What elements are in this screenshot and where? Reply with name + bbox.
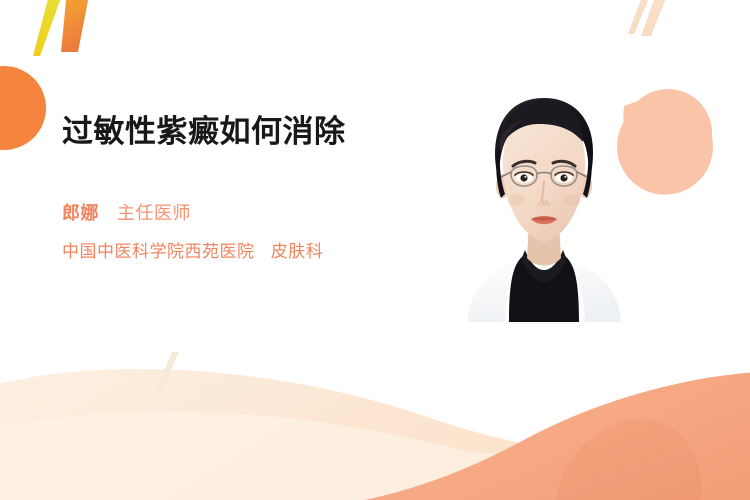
doctor-portrait-image: [443, 82, 643, 322]
department-name: 皮肤科: [271, 242, 324, 261]
diagonal-stripes-top-right: [628, 0, 671, 36]
diagonal-stripes-top-left: [33, 0, 92, 56]
bottom-wave: [0, 369, 750, 500]
doctor-portrait: [443, 82, 643, 322]
page-title: 过敏性紫癜如何消除: [62, 112, 392, 153]
doctor-rank: 主任医师: [117, 203, 191, 223]
cheek-right: [563, 194, 581, 206]
hospital-name: 中国中医科学院西苑医院: [62, 242, 255, 261]
diagonal-stripe-small: [155, 352, 179, 392]
cheek-left: [507, 194, 525, 206]
orange-circle-icon: [0, 66, 46, 150]
nose-base: [537, 201, 551, 207]
doctor-name: 郎娜: [62, 203, 99, 223]
doctor-byline: 郎娜 主任医师: [62, 200, 412, 227]
text-block: 过敏性紫癜如何消除 郎娜 主任医师 中国中医科学院西苑医院 皮肤科: [62, 112, 412, 262]
video-cover-card: 过敏性紫癜如何消除 郎娜 主任医师 中国中医科学院西苑医院 皮肤科: [0, 0, 750, 500]
doctor-affiliation: 中国中医科学院西苑医院 皮肤科: [62, 237, 412, 262]
